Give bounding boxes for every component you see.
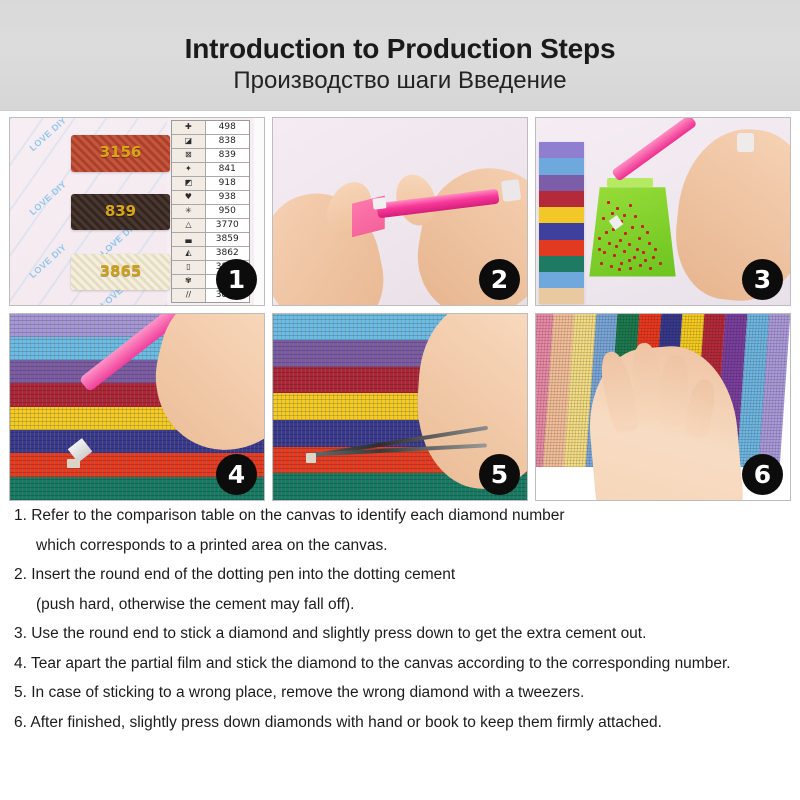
color-chart-row: ◩918 — [172, 177, 249, 191]
step-panel-4: 4 — [9, 313, 265, 502]
color-number: 838 — [206, 135, 250, 148]
canvas-stripe — [539, 288, 585, 304]
tray-diamond — [631, 226, 634, 229]
step-panel-1: LOVE DIY LOVE DIY LOVE DIY LOVE DIY LOVE… — [9, 117, 265, 306]
color-chart-row: ◪838 — [172, 135, 249, 149]
step-panel-5: 5 — [272, 313, 528, 502]
color-symbol-icon: ▯ — [172, 261, 205, 274]
color-number: 498 — [206, 121, 250, 134]
color-chart-row: ✦841 — [172, 163, 249, 177]
tray-diamond — [659, 262, 662, 265]
color-chart-row: ⊠839 — [172, 149, 249, 163]
canvas-color-strip — [539, 142, 585, 304]
step-image-grid: LOVE DIY LOVE DIY LOVE DIY LOVE DIY LOVE… — [9, 117, 791, 501]
tray-diamond — [638, 237, 641, 240]
color-number: 3859 — [206, 233, 250, 246]
tray-diamond — [600, 262, 603, 265]
step-panel-6: 6 — [535, 313, 791, 502]
color-symbol-icon: ✦ — [172, 163, 205, 176]
pen-cap — [737, 133, 755, 152]
instruction-line: 3. Use the round end to stick a diamond … — [14, 626, 786, 642]
page-header: Introduction to Production Steps Произво… — [0, 0, 800, 111]
diamond-bag-code: 3865 — [100, 262, 142, 280]
diamond-bag: 3156 — [71, 135, 170, 172]
color-number: 918 — [206, 177, 250, 190]
canvas-stripe — [539, 207, 585, 223]
canvas-stripe — [539, 158, 585, 174]
tray-diamond — [602, 217, 605, 220]
canvas-stripe — [539, 240, 585, 256]
wrong-diamond — [306, 453, 316, 462]
instruction-line: 6. After finished, slightly press down d… — [14, 715, 786, 731]
tray-diamond — [598, 248, 601, 251]
color-number: 938 — [206, 191, 250, 204]
color-symbol-icon: ✳ — [172, 205, 205, 218]
instruction-list: 1. Refer to the comparison table on the … — [0, 508, 800, 744]
tray-diamond — [644, 259, 647, 262]
step-badge-6: 6 — [742, 454, 783, 495]
color-chart-row: ✳950 — [172, 205, 249, 219]
tray-diamond — [648, 242, 651, 245]
tray-diamond — [642, 251, 645, 254]
tray-diamond — [620, 262, 623, 265]
tray-diamond — [605, 231, 608, 234]
tray-diamond — [623, 214, 626, 217]
canvas-stripe — [539, 272, 585, 288]
tray-diamond — [654, 248, 657, 251]
tray-diamond — [618, 268, 621, 271]
pen-cap — [500, 179, 520, 202]
red-diamonds-in-tray — [592, 196, 673, 274]
instruction-line: 4. Tear apart the partial film and stick… — [14, 656, 786, 672]
tray-diamond — [624, 232, 627, 235]
color-symbol-icon: ◩ — [172, 177, 205, 190]
canvas-stripe — [539, 223, 585, 239]
tray-diamond — [615, 245, 618, 248]
color-symbol-icon: ▃ — [172, 233, 205, 246]
color-number: 839 — [206, 149, 250, 162]
color-chart-row: △3770 — [172, 219, 249, 233]
color-chart-row: ▃3859 — [172, 233, 249, 247]
color-symbol-icon: // — [172, 289, 205, 302]
tray-diamond — [649, 267, 652, 270]
color-chart-row: ♥938 — [172, 191, 249, 205]
color-number: 3770 — [206, 219, 250, 232]
instruction-line: 2. Insert the round end of the dotting p… — [14, 567, 786, 583]
color-symbol-icon: ◭ — [172, 247, 205, 260]
step-badge-1: 1 — [216, 259, 257, 300]
tray-diamond — [641, 225, 644, 228]
pen-tip — [373, 197, 387, 210]
instruction-line: 1. Refer to the comparison table on the … — [14, 508, 786, 524]
tray-diamond — [629, 204, 632, 207]
tray-diamond — [607, 201, 610, 204]
diamond-on-tip — [67, 459, 80, 468]
step-panel-3: 3 — [535, 117, 791, 306]
diamond-bag: 3865 — [71, 254, 170, 289]
color-number: 841 — [206, 163, 250, 176]
step-badge-3: 3 — [742, 259, 783, 300]
tray-diamond — [639, 264, 642, 267]
canvas-stripe — [539, 191, 585, 207]
tray-diamond — [628, 259, 631, 262]
step-badge-4: 4 — [216, 454, 257, 495]
tray-diamond — [619, 239, 622, 242]
instruction-line: (push hard, otherwise the cement may fal… — [14, 597, 786, 613]
canvas-stripe — [539, 175, 585, 191]
tray-diamond — [636, 248, 639, 251]
tray-diamond — [610, 265, 613, 268]
instruction-line: 5. In case of sticking to a wrong place,… — [14, 685, 786, 701]
color-symbol-icon: ✾ — [172, 275, 205, 288]
step-badge-2: 2 — [479, 259, 520, 300]
step-panel-2: 2 — [272, 117, 528, 306]
canvas-stripe — [539, 142, 585, 158]
diamond-bag: 839 — [71, 194, 170, 229]
color-chart-row: ✚498 — [172, 121, 249, 135]
color-symbol-icon: ♥ — [172, 191, 205, 204]
color-symbol-icon: ⊠ — [172, 149, 205, 162]
tray-diamond — [634, 215, 637, 218]
tray-lip — [607, 178, 653, 187]
diamond-bag-code: 3156 — [100, 144, 142, 162]
tray-diamond — [633, 256, 636, 259]
tray-diamond — [611, 212, 614, 215]
color-number: 3862 — [206, 247, 250, 260]
color-number: 950 — [206, 205, 250, 218]
tray-diamond — [652, 256, 655, 259]
color-symbol-icon: △ — [172, 219, 205, 232]
color-symbol-icon: ✚ — [172, 121, 205, 134]
page-title-english: Introduction to Production Steps — [0, 0, 800, 63]
canvas-stripe — [539, 256, 585, 272]
instruction-line: which corresponds to a printed area on t… — [14, 538, 786, 554]
tray-diamond — [628, 243, 631, 246]
tray-diamond — [603, 251, 606, 254]
tray-diamond — [629, 267, 632, 270]
diamond-bag-code: 839 — [105, 202, 136, 220]
color-symbol-icon: ◪ — [172, 135, 205, 148]
tray-diamond — [608, 242, 611, 245]
page-title-russian: Производство шаги Введение — [0, 63, 800, 93]
tray-diamond — [646, 231, 649, 234]
step-badge-5: 5 — [479, 454, 520, 495]
tray-diamond — [598, 237, 601, 240]
tray-diamond — [623, 250, 626, 253]
tray-diamond — [613, 254, 616, 257]
tray-diamond — [616, 207, 619, 210]
